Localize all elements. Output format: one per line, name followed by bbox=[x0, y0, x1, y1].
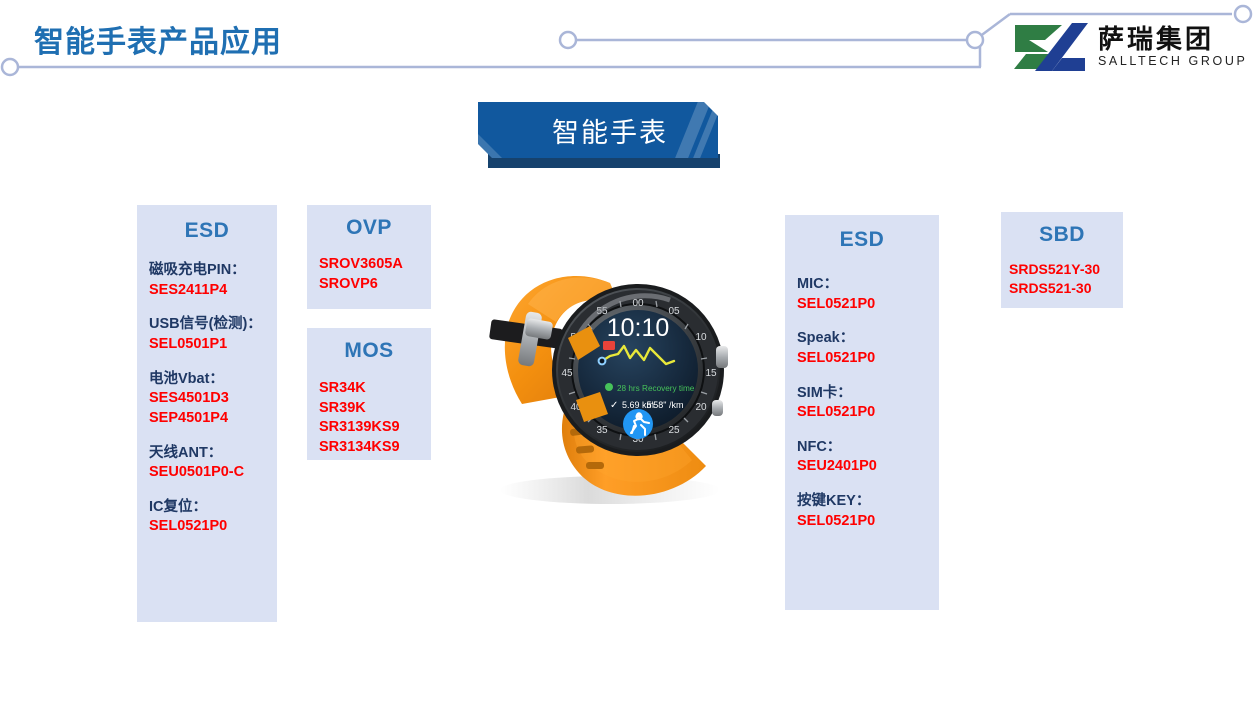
spec-label: SIM卡： bbox=[797, 383, 927, 404]
panel-title: ESD bbox=[137, 219, 277, 243]
part-number: SR34K bbox=[319, 379, 419, 399]
part-number: SEL0521P0 bbox=[149, 517, 265, 537]
part-number: SES4501D3 bbox=[149, 389, 265, 409]
part-number: SR3134KS9 bbox=[319, 438, 419, 458]
spec-label: IC复位： bbox=[149, 497, 265, 518]
panel-title: ESD bbox=[785, 228, 939, 252]
part-number: SEL0501P1 bbox=[149, 335, 265, 355]
svg-text:15: 15 bbox=[705, 368, 717, 379]
spec-group: 电池Vbat： SES4501D3 SEP4501P4 bbox=[149, 369, 265, 429]
part-number: SR3139KS9 bbox=[319, 418, 419, 438]
panel-title: OVP bbox=[307, 216, 431, 240]
spec-group: SR34K SR39K SR3139KS9 SR3134KS9 bbox=[319, 379, 419, 458]
part-number: SR39K bbox=[319, 399, 419, 419]
panel-body: SR34K SR39K SR3139KS9 SR3134KS9 bbox=[307, 379, 431, 458]
svg-text:00: 00 bbox=[632, 298, 644, 309]
part-number: SEL0521P0 bbox=[797, 295, 927, 315]
slide-header: 智能手表产品应用 萨瑞集团 SALLTECH GROUP bbox=[0, 0, 1256, 90]
spec-group: SRDS521Y-30 SRDS521-30 bbox=[1009, 260, 1115, 298]
part-number: SROVP6 bbox=[319, 275, 419, 295]
spec-group: SIM卡： SEL0521P0 bbox=[797, 383, 927, 423]
spec-label: 天线ANT： bbox=[149, 443, 265, 464]
part-number: SRDS521Y-30 bbox=[1009, 260, 1115, 279]
logo-text-block: 萨瑞集团 SALLTECH GROUP bbox=[1098, 26, 1247, 68]
svg-text:45: 45 bbox=[561, 368, 573, 379]
panel-body: MIC： SEL0521P0 Speak： SEL0521P0 SIM卡： SE… bbox=[785, 274, 939, 531]
spec-group: NFC： SEU2401P0 bbox=[797, 437, 927, 477]
spec-label: Speak： bbox=[797, 328, 927, 349]
svg-text:35: 35 bbox=[596, 425, 608, 436]
part-number: SROV3605A bbox=[319, 255, 419, 275]
spec-group: 按键KEY： SEL0521P0 bbox=[797, 491, 927, 531]
spec-group: SROV3605A SROVP6 bbox=[319, 255, 419, 294]
part-number: SEU0501P0-C bbox=[149, 463, 265, 483]
panel-ovp: OVP SROV3605A SROVP6 bbox=[307, 205, 431, 309]
spec-group: MIC： SEL0521P0 bbox=[797, 274, 927, 314]
svg-text:10: 10 bbox=[695, 332, 707, 343]
page-title: 智能手表产品应用 bbox=[34, 17, 282, 61]
panel-body: 磁吸充电PIN： SES2411P4 USB信号(检测)： SEL0501P1 … bbox=[137, 260, 277, 537]
watch-lower-button bbox=[712, 400, 723, 416]
strap-hole bbox=[586, 462, 604, 469]
part-number: SEU2401P0 bbox=[797, 457, 927, 477]
watch-check-icon: ✓ bbox=[610, 400, 618, 411]
logo-name-en: SALLTECH GROUP bbox=[1098, 55, 1247, 68]
part-number: SEL0521P0 bbox=[797, 512, 927, 532]
logo-name-cn: 萨瑞集团 bbox=[1098, 26, 1247, 52]
part-number: SEP4501P4 bbox=[149, 409, 265, 429]
part-number: SEL0521P0 bbox=[797, 403, 927, 423]
spec-label: 电池Vbat： bbox=[149, 369, 265, 390]
panel-esd-left: ESD 磁吸充电PIN： SES2411P4 USB信号(检测)： SEL050… bbox=[137, 205, 277, 622]
smartwatch-product-image: 00 05 10 15 20 25 30 35 40 45 50 55 bbox=[460, 228, 750, 533]
svg-text:20: 20 bbox=[695, 402, 707, 413]
panel-body: SRDS521Y-30 SRDS521-30 bbox=[1001, 260, 1123, 298]
svg-text:25: 25 bbox=[668, 425, 680, 436]
banner-label: 智能手表 bbox=[478, 102, 718, 158]
salltech-logo-icon bbox=[1012, 18, 1090, 76]
panel-sbd: SBD SRDS521Y-30 SRDS521-30 bbox=[1001, 212, 1123, 308]
spec-label: 按键KEY： bbox=[797, 491, 927, 512]
watch-crown-button bbox=[716, 346, 728, 368]
part-number: SES2411P4 bbox=[149, 281, 265, 301]
part-number: SRDS521-30 bbox=[1009, 279, 1115, 298]
spec-group: Speak： SEL0521P0 bbox=[797, 328, 927, 368]
spec-group: 磁吸充电PIN： SES2411P4 bbox=[149, 260, 265, 300]
svg-text:05: 05 bbox=[668, 306, 680, 317]
part-number: SEL0521P0 bbox=[797, 349, 927, 369]
watch-recovery-text: 28 hrs Recovery time bbox=[617, 384, 695, 393]
brand-logo: 萨瑞集团 SALLTECH GROUP bbox=[1012, 18, 1247, 76]
panel-title: MOS bbox=[307, 339, 431, 363]
panel-body: SROV3605A SROVP6 bbox=[307, 255, 431, 294]
spec-label: USB信号(检测)： bbox=[149, 314, 265, 335]
watch-pace-text: 5'58" /km bbox=[647, 400, 684, 410]
spec-label: 磁吸充电PIN： bbox=[149, 260, 265, 281]
spec-group: 天线ANT： SEU0501P0-C bbox=[149, 443, 265, 483]
spec-label: MIC： bbox=[797, 274, 927, 295]
panel-title: SBD bbox=[1001, 223, 1123, 247]
panel-esd-right: ESD MIC： SEL0521P0 Speak： SEL0521P0 SIM卡… bbox=[785, 215, 939, 610]
spec-group: IC复位： SEL0521P0 bbox=[149, 497, 265, 537]
spec-label: NFC： bbox=[797, 437, 927, 458]
spec-group: USB信号(检测)： SEL0501P1 bbox=[149, 314, 265, 354]
section-banner: 智能手表 bbox=[478, 102, 723, 168]
panel-mos: MOS SR34K SR39K SR3139KS9 SR3134KS9 bbox=[307, 328, 431, 460]
watch-time: 10:10 bbox=[607, 314, 670, 342]
